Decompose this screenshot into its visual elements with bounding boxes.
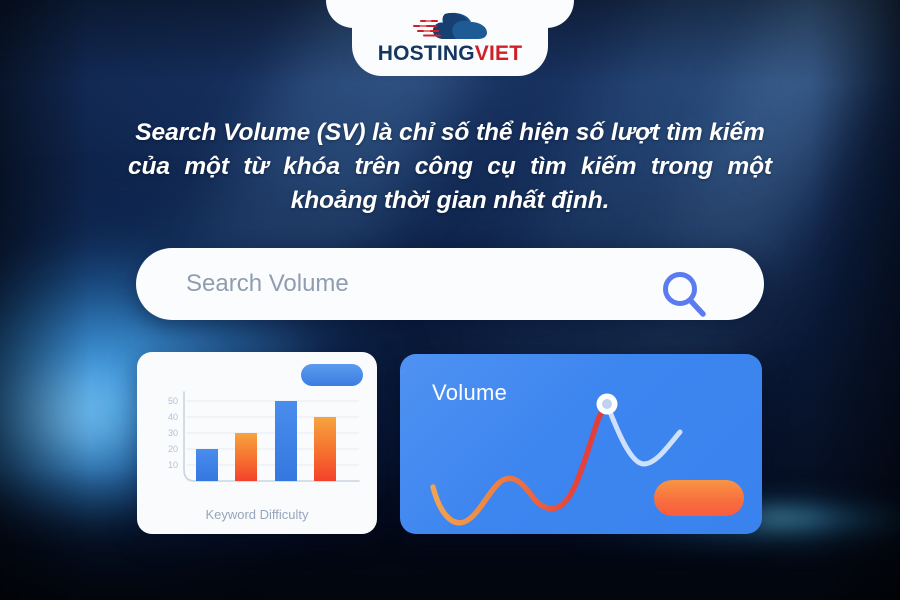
chart-caption: Keyword Difficulty — [137, 507, 377, 522]
header-tab-notch-left — [318, 0, 354, 36]
brand-wordmark-viet: VIET — [475, 42, 522, 65]
brand-wordmark: HOSTINGVIET — [378, 43, 523, 64]
search-input[interactable] — [184, 263, 648, 305]
poster-canvas: HOSTINGVIET Search Volume (SV) là chỉ số… — [0, 0, 900, 600]
volume-card-action-button[interactable] — [654, 480, 744, 516]
headline-line-1: Search Volume (SV) là chỉ số thể hiện số… — [122, 116, 778, 150]
svg-text:50: 50 — [168, 396, 178, 406]
search-icon[interactable] — [658, 268, 712, 322]
page-title: Search Volume (SV) là chỉ số thể hiện số… — [122, 116, 778, 217]
search-bar[interactable] — [136, 248, 764, 320]
brand-wordmark-hosting: HOSTING — [378, 42, 475, 65]
svg-text:40: 40 — [168, 412, 178, 422]
headline-line-2: của một từ khóa trên công cụ tìm kiếm tr… — [122, 150, 778, 184]
bar-chart: 50 40 30 20 10 — [147, 388, 369, 496]
headline-line-3: khoảng thời gian nhất định. — [122, 184, 778, 218]
svg-text:10: 10 — [168, 460, 178, 470]
brand-logo[interactable]: HOSTINGVIET — [352, 10, 548, 76]
svg-text:30: 30 — [168, 428, 178, 438]
svg-text:20: 20 — [168, 444, 178, 454]
data-point-marker — [597, 394, 618, 415]
keyword-card-action-button[interactable] — [301, 364, 363, 386]
header-tab-notch-right — [546, 0, 582, 36]
cloud-speed-icon — [409, 10, 491, 40]
keyword-difficulty-card: 50 40 30 20 10 Keyword Difficulty — [137, 352, 377, 534]
volume-card: Volume — [400, 354, 762, 534]
